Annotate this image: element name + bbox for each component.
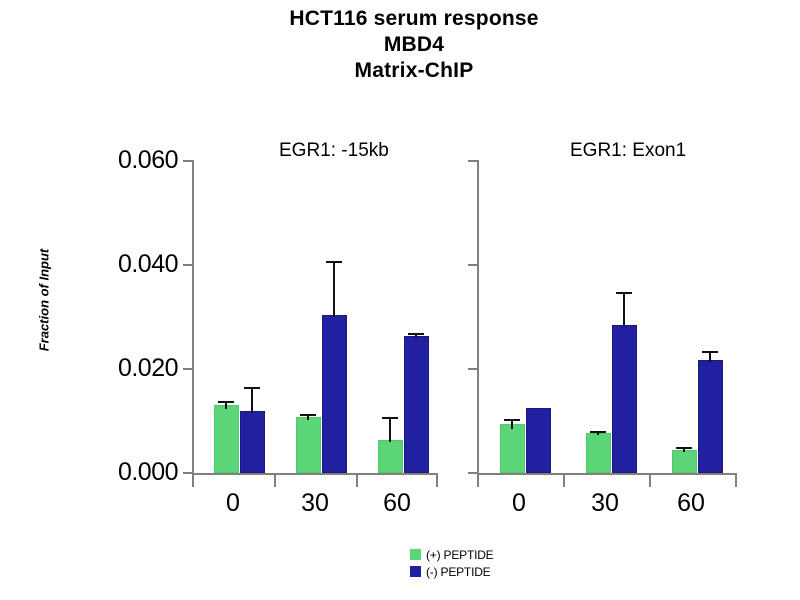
panel-1-x-label-60: 60 [367, 490, 427, 516]
errorbar-cap-p2-t30-plus-peptide [590, 431, 606, 433]
panel-1-x-tick-0 [192, 473, 194, 487]
bar-p2-t0-minus-peptide [526, 408, 551, 473]
errorbar-cap-p2-t60-minus-peptide [702, 351, 718, 353]
bar-p2-t60-plus-peptide [672, 450, 697, 473]
panel-1-x-tick-30 [274, 473, 276, 487]
y-axis-tick-labels: 0.060 0.040 0.020 0.000 [78, 0, 178, 600]
bar-p2-t0-plus-peptide [500, 424, 525, 473]
panel-1-x-axis-line [192, 473, 438, 475]
panel-2-x-tick-0 [477, 473, 479, 487]
panel-1-x-label-0: 0 [203, 490, 263, 516]
y-tick-label-0020: 0.020 [88, 356, 178, 381]
panel-2-x-label-60: 60 [661, 490, 721, 516]
legend-label-plus-peptide: (+) PEPTIDE [426, 548, 493, 562]
errorbar-stem-p1-t0-minus-peptide [251, 387, 253, 413]
y-axis-title: Fraction of Input [37, 249, 52, 352]
panel-2-y-axis-line [477, 160, 479, 474]
errorbar-cap-p1-t30-plus-peptide [300, 414, 316, 416]
panel-1-y-axis-line [192, 160, 194, 474]
legend-label-minus-peptide: (-) PEPTIDE [426, 565, 490, 579]
panel-2-y-tick-0060 [468, 160, 477, 162]
legend-swatch-green-icon [410, 549, 421, 560]
y-tick-label-0000: 0.000 [88, 460, 178, 485]
bar-p2-t30-plus-peptide [586, 433, 611, 473]
panel-2-x-axis-right-cap [735, 473, 737, 487]
panel-2-y-tick-0020 [468, 368, 477, 370]
panel-2-x-axis-line [477, 473, 737, 475]
panel-1-x-axis-right-cap [436, 473, 438, 487]
panel-2-x-label-0: 0 [489, 490, 549, 516]
errorbar-cap-p2-t0-plus-peptide [504, 419, 520, 421]
errorbar-stem-p2-t30-minus-peptide [623, 292, 625, 327]
panel-2-title: EGR1: Exon1 [570, 140, 686, 162]
legend-item-minus-peptide: (-) PEPTIDE [410, 563, 493, 580]
panel-1-y-tick-0020 [183, 368, 192, 370]
bar-p1-t0-plus-peptide [214, 405, 239, 473]
panel-1-y-tick-0000 [183, 472, 192, 474]
bar-p1-t60-plus-peptide [378, 440, 403, 473]
panel-2-x-tick-60 [649, 473, 651, 487]
bar-p2-t30-minus-peptide [612, 325, 637, 473]
errorbar-stem-p1-t30-minus-peptide [333, 261, 335, 317]
y-tick-label-0060: 0.060 [88, 148, 178, 173]
panel-2-x-label-30: 30 [575, 490, 635, 516]
panel-2-y-tick-0040 [468, 264, 477, 266]
chart-legend: (+) PEPTIDE (-) PEPTIDE [410, 546, 493, 580]
errorbar-cap-p2-t30-minus-peptide [616, 292, 632, 294]
panel-1-x-label-30: 30 [285, 490, 345, 516]
errorbar-cap-p1-t60-minus-peptide [408, 333, 424, 335]
y-tick-label-0040: 0.040 [88, 252, 178, 277]
errorbar-cap-p1-t0-plus-peptide [218, 401, 234, 403]
panel-1-x-tick-60 [356, 473, 358, 487]
errorbar-cap-p1-t30-minus-peptide [326, 261, 342, 263]
errorbar-cap-p1-t60-plus-peptide [382, 417, 398, 419]
legend-swatch-blue-icon [410, 566, 421, 577]
bar-p2-t60-minus-peptide [698, 360, 723, 473]
legend-item-plus-peptide: (+) PEPTIDE [410, 546, 493, 563]
bar-p1-t60-minus-peptide [404, 336, 429, 473]
panel-2-y-tick-0000 [468, 472, 477, 474]
errorbar-stem-p1-t60-plus-peptide [389, 417, 391, 442]
bar-p1-t30-plus-peptide [296, 417, 321, 473]
panel-2-x-tick-30 [563, 473, 565, 487]
chart-plot-area: Fraction of Input 0.060 0.040 0.020 0.00… [0, 0, 800, 600]
errorbar-cap-p1-t0-minus-peptide [244, 387, 260, 389]
bar-p1-t30-minus-peptide [322, 315, 347, 473]
panel-1-y-tick-0040 [183, 264, 192, 266]
panel-1-title: EGR1: -15kb [279, 140, 389, 162]
panel-1-y-tick-0060 [183, 160, 192, 162]
bar-p1-t0-minus-peptide [240, 411, 265, 473]
errorbar-cap-p2-t60-plus-peptide [676, 447, 692, 449]
